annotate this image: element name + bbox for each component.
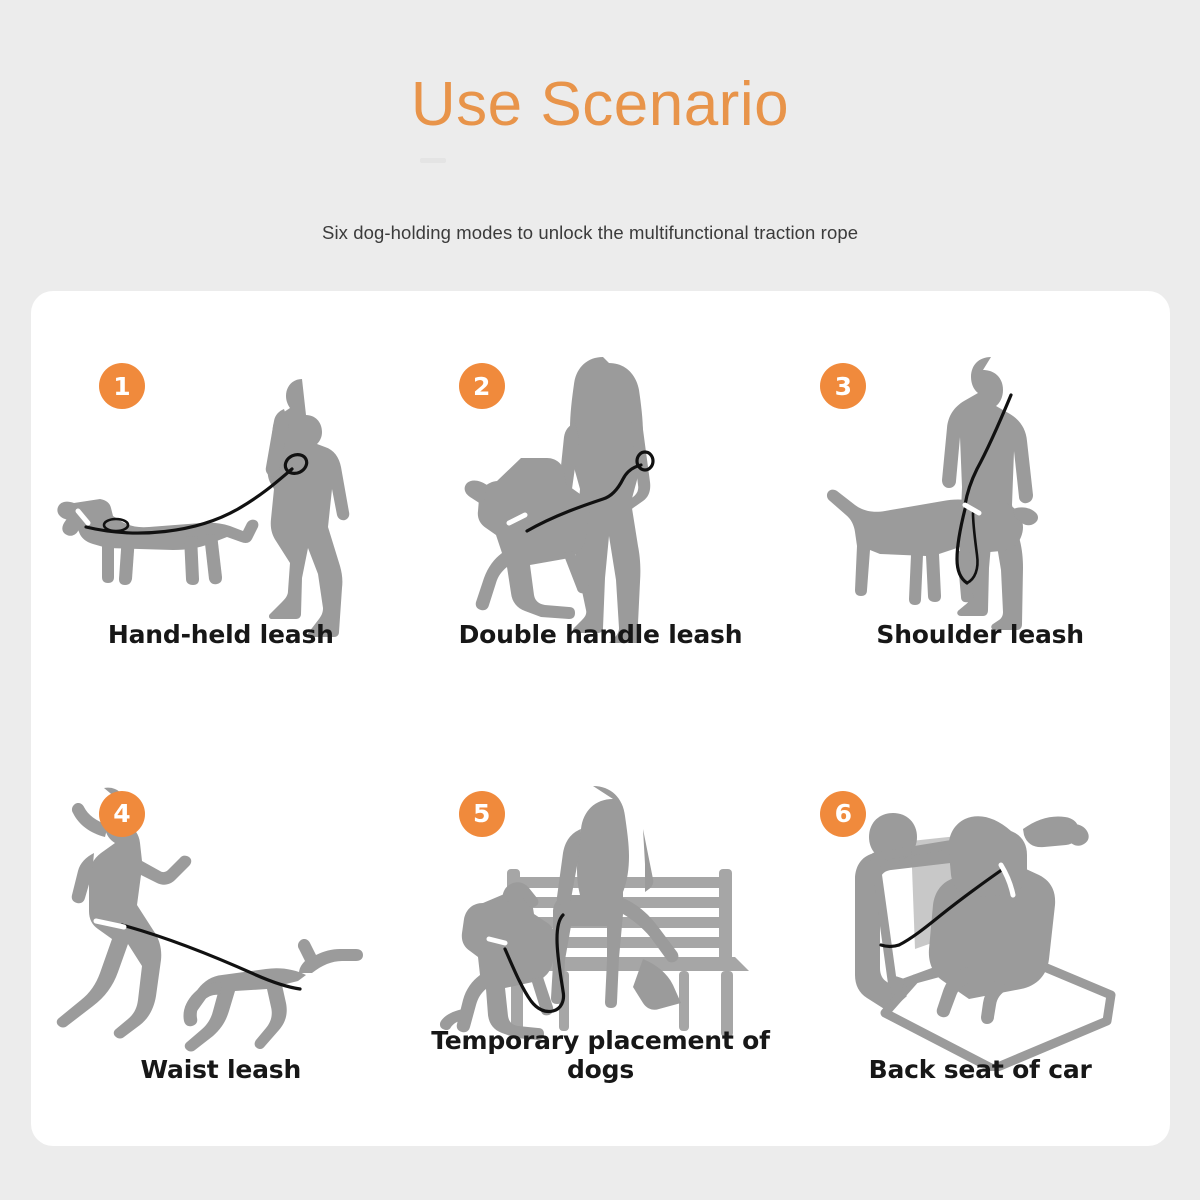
page-header: Use Scenario Six dog-holding modes to un… (0, 0, 1200, 290)
page-subtitle: Six dog-holding modes to unlock the mult… (322, 220, 882, 247)
step-badge-5: 5 (459, 791, 505, 837)
page-title: Use Scenario (0, 74, 1200, 136)
dog-sitting-on-seat-silhouette (929, 816, 1089, 1024)
scenario-label-2: Double handle leash (411, 620, 791, 649)
step-badge-2: 2 (459, 363, 505, 409)
scenario-card: 1 (31, 291, 1170, 1146)
scenario-label-6: Back seat of car (790, 1055, 1170, 1084)
scenario-panel-6[interactable]: 6 (790, 719, 1170, 1147)
scenario-panel-2[interactable]: 2 (411, 291, 791, 719)
tether-anchor-clip (881, 945, 899, 947)
scenario-panel-1[interactable]: 1 (31, 291, 411, 719)
step-badge-6: 6 (820, 791, 866, 837)
scenario-label-3: Shoulder leash (790, 620, 1170, 649)
scenario-label-5: Temporary placement of dogs (411, 1026, 791, 1084)
back-seat-of-car-illustration (815, 781, 1145, 1071)
shoulder-leash-illustration (815, 353, 1145, 643)
step-badge-3: 3 (820, 363, 866, 409)
woman-walking-silhouette (266, 379, 350, 637)
scenario-label-1: Hand-held leash (31, 620, 411, 649)
scenario-grid: 1 (31, 291, 1170, 1146)
scenario-panel-3[interactable]: 3 (790, 291, 1170, 719)
scenario-panel-4[interactable]: 4 (31, 719, 411, 1147)
scenario-label-4: Waist leash (31, 1055, 411, 1084)
man-standing-silhouette (942, 357, 1033, 630)
step-badge-1: 1 (99, 363, 145, 409)
scenario-panel-5[interactable]: 5 (411, 719, 791, 1147)
step-badge-4: 4 (99, 791, 145, 837)
dog-standing-silhouette (57, 499, 258, 585)
title-underline-mark (420, 158, 446, 163)
